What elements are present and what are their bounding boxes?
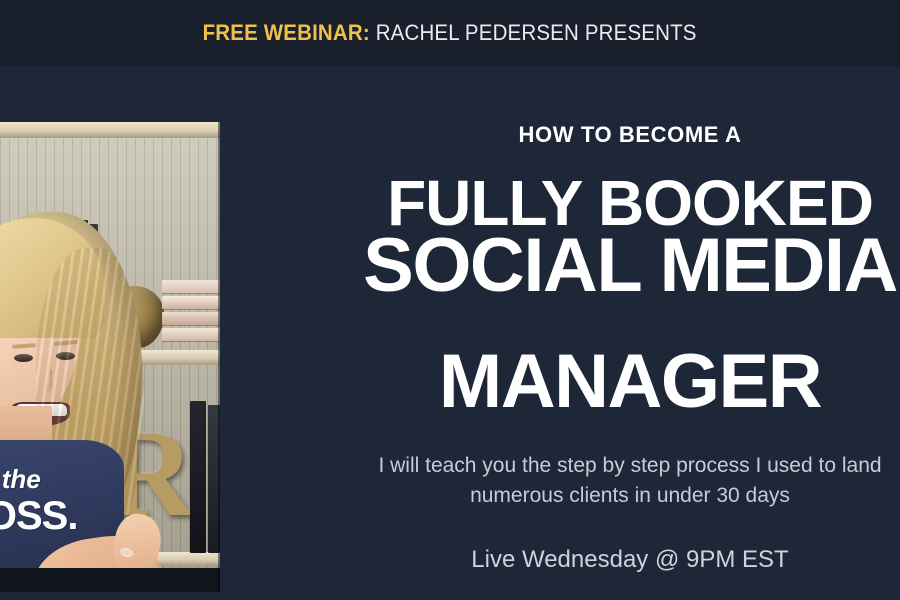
announcement-bar: FREE WEBINAR: RACHEL PEDERSEN PRESENTS [0,0,900,66]
eye-left [14,354,33,362]
stacked-book [162,296,220,309]
announcement-text: FREE WEBINAR: RACHEL PEDERSEN PRESENTS [203,20,697,46]
stacked-book [162,312,220,325]
tshirt-text: I'm the BOSS. [0,466,108,536]
hero-subtitle-line-1: I will teach you the step by step proces… [250,451,900,481]
announcement-highlight: FREE WEBINAR: [203,20,370,45]
hero-stage: R [0,66,900,600]
tshirt-line-2: BOSS. [0,496,108,536]
book-stack [162,280,220,350]
headline-eyebrow: HOW TO BECOME A [250,122,900,148]
eyebrow-left [12,343,36,349]
hero-subtitle-line-2: numerous clients in under 30 days [250,481,900,511]
bookshelf-board-top [0,122,220,138]
headline-line-3: MANAGER [250,344,900,420]
presenter-photo-image: R [0,122,220,592]
tshirt-line-1: I'm the [0,466,108,492]
hero-subtitle: I will teach you the step by step proces… [250,451,900,511]
presenter-photo: R [0,122,220,592]
webinar-landing-hero: FREE WEBINAR: RACHEL PEDERSEN PRESENTS [0,0,900,600]
live-time-text: Live Wednesday @ 9PM EST [250,546,900,574]
announcement-rest: RACHEL PEDERSEN PRESENTS [370,20,697,45]
photo-bottom-shadow [0,568,220,592]
stacked-book [162,328,220,341]
presenter-figure: I'm the BOSS. [0,208,160,592]
book-dark-5 [190,401,206,553]
ring [119,547,134,559]
photo-right-edge [218,122,220,592]
stacked-book [162,280,220,293]
headline-line-2: SOCIAL MEDIA [250,228,900,304]
